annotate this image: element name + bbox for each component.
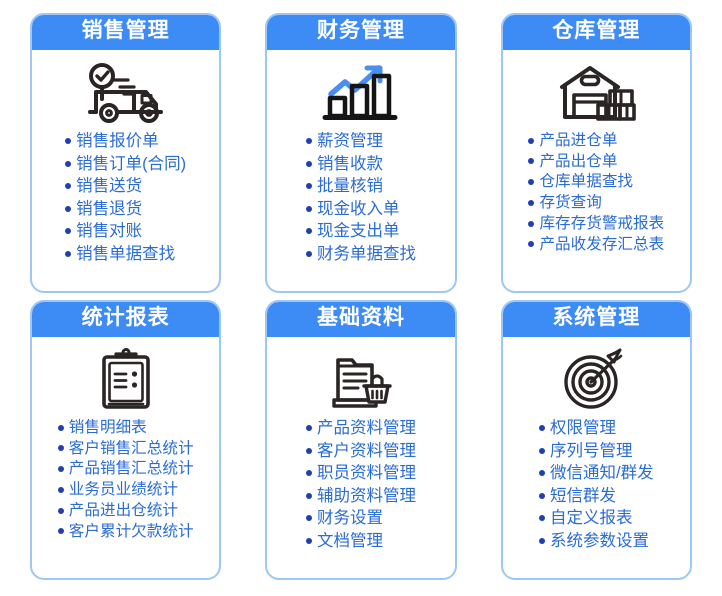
grid-cell-4: 统计报表 销售明细表 客户销售汇总统计 xyxy=(8,297,243,584)
bullet-icon xyxy=(306,515,312,521)
list-item[interactable]: 销售退货 xyxy=(65,198,186,221)
list-item[interactable]: 销售送货 xyxy=(65,175,186,198)
list-item[interactable]: 财务单据查找 xyxy=(306,243,416,266)
list-item[interactable]: 销售对账 xyxy=(65,220,186,243)
bullet-icon xyxy=(306,251,312,257)
list-item[interactable]: 存货查询 xyxy=(528,192,664,213)
item-list-reports: 销售明细表 客户销售汇总统计 产品销售汇总统计 业务员业绩统计 产品进出仓统计 … xyxy=(58,417,194,542)
list-item-label: 销售对账 xyxy=(76,223,142,240)
list-item-label: 文档管理 xyxy=(317,533,383,550)
list-item[interactable]: 辅助资料管理 xyxy=(306,485,416,508)
list-item-label: 产品收发存汇总表 xyxy=(539,237,664,253)
list-item-label: 销售报价单 xyxy=(76,133,159,150)
bullet-icon xyxy=(65,228,71,234)
list-item-label: 批量核销 xyxy=(317,178,383,195)
list-item-label: 产品销售汇总统计 xyxy=(69,461,194,477)
card-body-system: 权限管理 序列号管理 微信通知/群发 短信群发 自定义报表 系统参数设置 xyxy=(503,337,690,578)
list-item-label: 微信通知/群发 xyxy=(550,465,654,482)
list-item-label: 系统参数设置 xyxy=(550,533,649,550)
grid-cell-2: 财务管理 xyxy=(243,10,478,297)
bullet-icon xyxy=(306,138,312,144)
list-item[interactable]: 产品资料管理 xyxy=(306,417,416,440)
list-item[interactable]: 库存存货警戒报表 xyxy=(528,213,664,234)
module-card-system[interactable]: 系统管理 权限管理 序列号管理 微信通知/群发 xyxy=(501,300,692,580)
list-item[interactable]: 产品销售汇总统计 xyxy=(58,459,194,480)
list-item[interactable]: 销售单据查找 xyxy=(65,243,186,266)
list-item-label: 权限管理 xyxy=(550,420,616,437)
bullet-icon xyxy=(58,445,64,451)
list-item[interactable]: 产品进出仓统计 xyxy=(58,500,194,521)
bullet-icon xyxy=(58,528,64,534)
bullet-icon xyxy=(58,487,64,493)
list-item-label: 客户资料管理 xyxy=(317,443,416,460)
item-list-sales: 销售报价单 销售订单(合同) 销售送货 销售退货 销售对账 销售单据查找 xyxy=(65,130,186,265)
bullet-icon xyxy=(306,161,312,167)
bullet-icon xyxy=(58,508,64,514)
list-item-label: 销售收款 xyxy=(317,156,383,173)
list-item-label: 职员资料管理 xyxy=(317,465,416,482)
list-item[interactable]: 产品收发存汇总表 xyxy=(528,234,664,255)
list-item[interactable]: 短信群发 xyxy=(539,485,654,508)
card-body-basic-data: 产品资料管理 客户资料管理 职员资料管理 辅助资料管理 财务设置 文档管理 xyxy=(267,337,454,578)
bullet-icon xyxy=(306,228,312,234)
list-item-label: 仓库单据查找 xyxy=(539,174,633,190)
warehouse-boxes-icon xyxy=(554,56,638,130)
list-item-label: 财务设置 xyxy=(317,510,383,527)
list-item[interactable]: 仓库单据查找 xyxy=(528,172,664,193)
list-item[interactable]: 销售订单(合同) xyxy=(65,153,186,176)
list-item-label: 短信群发 xyxy=(550,488,616,505)
bullet-icon xyxy=(65,183,71,189)
card-body-finance: 薪资管理 销售收款 批量核销 现金收入单 现金支出单 财务单据查找 xyxy=(267,50,454,291)
list-item[interactable]: 客户资料管理 xyxy=(306,440,416,463)
list-item[interactable]: 微信通知/群发 xyxy=(539,462,654,485)
bullet-icon xyxy=(65,206,71,212)
list-item-label: 库存存货警戒报表 xyxy=(539,216,664,232)
list-item[interactable]: 现金收入单 xyxy=(306,198,416,221)
bullet-icon xyxy=(539,515,545,521)
list-item[interactable]: 序列号管理 xyxy=(539,440,654,463)
list-item[interactable]: 销售报价单 xyxy=(65,130,186,153)
list-item[interactable]: 销售收款 xyxy=(306,153,416,176)
list-item-label: 产品出仓单 xyxy=(539,154,617,170)
grid-cell-5: 基础资料 产品资料管理 客户资料管理 xyxy=(243,297,478,584)
bullet-icon xyxy=(306,183,312,189)
bullet-icon xyxy=(539,425,545,431)
list-item-label: 薪资管理 xyxy=(317,133,383,150)
bullet-icon xyxy=(58,425,64,431)
list-item[interactable]: 财务设置 xyxy=(306,507,416,530)
module-card-finance[interactable]: 财务管理 xyxy=(265,13,456,293)
grid-cell-3: 仓库管理 xyxy=(479,10,714,297)
item-list-warehouse: 产品进仓单 产品出仓单 仓库单据查找 存货查询 库存存货警戒报表 产品收发存汇总… xyxy=(528,130,664,255)
grid-cell-6: 系统管理 权限管理 序列号管理 微信通知/群发 xyxy=(479,297,714,584)
list-item[interactable]: 权限管理 xyxy=(539,417,654,440)
list-item[interactable]: 业务员业绩统计 xyxy=(58,479,194,500)
bullet-icon xyxy=(306,538,312,544)
bullet-icon xyxy=(528,241,534,247)
grid-cell-1: 销售管理 xyxy=(8,10,243,297)
module-card-grid: 销售管理 xyxy=(0,0,722,596)
module-card-basic-data[interactable]: 基础资料 产品资料管理 客户资料管理 xyxy=(265,300,456,580)
list-item[interactable]: 薪资管理 xyxy=(306,130,416,153)
list-item-label: 客户累计欠款统计 xyxy=(69,524,194,540)
module-card-sales[interactable]: 销售管理 xyxy=(30,13,221,293)
bullet-icon xyxy=(65,251,71,257)
bullet-icon xyxy=(306,206,312,212)
bullet-icon xyxy=(58,466,64,472)
card-title-reports: 统计报表 xyxy=(30,300,221,337)
target-dart-icon xyxy=(561,343,631,417)
bullet-icon xyxy=(539,470,545,476)
bullet-icon xyxy=(528,179,534,185)
list-item[interactable]: 文档管理 xyxy=(306,530,416,553)
card-title-finance: 财务管理 xyxy=(265,13,456,50)
bar-chart-growth-arrow-icon xyxy=(321,56,401,130)
bullet-icon xyxy=(528,138,534,144)
list-item-label: 序列号管理 xyxy=(550,443,633,460)
card-title-sales: 销售管理 xyxy=(30,13,221,50)
list-item[interactable]: 产品出仓单 xyxy=(528,151,664,172)
list-item[interactable]: 职员资料管理 xyxy=(306,462,416,485)
list-item-label: 销售订单(合同) xyxy=(76,156,186,173)
list-item-label: 财务单据查找 xyxy=(317,246,416,263)
card-title-basic-data: 基础资料 xyxy=(265,300,456,337)
bullet-icon xyxy=(539,538,545,544)
bullet-icon xyxy=(528,158,534,164)
bullet-icon xyxy=(306,425,312,431)
item-list-finance: 薪资管理 销售收款 批量核销 现金收入单 现金支出单 财务单据查找 xyxy=(306,130,416,265)
bullet-icon xyxy=(306,448,312,454)
bullet-icon xyxy=(539,448,545,454)
list-item-label: 产品进出仓统计 xyxy=(69,503,178,519)
item-list-basic-data: 产品资料管理 客户资料管理 职员资料管理 辅助资料管理 财务设置 文档管理 xyxy=(306,417,416,552)
list-item[interactable]: 客户销售汇总统计 xyxy=(58,438,194,459)
list-item[interactable]: 产品进仓单 xyxy=(528,130,664,151)
card-body-reports: 销售明细表 客户销售汇总统计 产品销售汇总统计 业务员业绩统计 产品进出仓统计 … xyxy=(32,337,219,578)
card-body-sales: 销售报价单 销售订单(合同) 销售送货 销售退货 销售对账 销售单据查找 xyxy=(32,50,219,291)
bullet-icon xyxy=(65,161,71,167)
list-item-label: 销售送货 xyxy=(76,178,142,195)
list-item-label: 存货查询 xyxy=(539,195,601,211)
list-item-label: 现金收入单 xyxy=(317,201,400,218)
delivery-truck-check-icon xyxy=(80,56,172,130)
list-item-label: 销售明细表 xyxy=(69,420,147,436)
list-item-label: 产品资料管理 xyxy=(317,420,416,437)
list-item[interactable]: 现金支出单 xyxy=(306,220,416,243)
list-item[interactable]: 系统参数设置 xyxy=(539,530,654,553)
list-item[interactable]: 批量核销 xyxy=(306,175,416,198)
bullet-icon xyxy=(306,493,312,499)
list-item-label: 产品进仓单 xyxy=(539,133,617,149)
list-item-label: 客户销售汇总统计 xyxy=(69,441,194,457)
card-body-warehouse: 产品进仓单 产品出仓单 仓库单据查找 存货查询 库存存货警戒报表 产品收发存汇总… xyxy=(503,50,690,291)
bullet-icon xyxy=(528,221,534,227)
bullet-icon xyxy=(539,493,545,499)
document-basket-icon xyxy=(326,343,396,417)
card-title-system: 系统管理 xyxy=(501,300,692,337)
clipboard-checklist-icon xyxy=(97,343,155,417)
bullet-icon xyxy=(528,200,534,206)
list-item-label: 现金支出单 xyxy=(317,223,400,240)
item-list-system: 权限管理 序列号管理 微信通知/群发 短信群发 自定义报表 系统参数设置 xyxy=(539,417,654,552)
list-item-label: 销售单据查找 xyxy=(76,246,175,263)
list-item-label: 销售退货 xyxy=(76,201,142,218)
list-item[interactable]: 自定义报表 xyxy=(539,507,654,530)
list-item[interactable]: 销售明细表 xyxy=(58,417,194,438)
list-item[interactable]: 客户累计欠款统计 xyxy=(58,521,194,542)
list-item-label: 业务员业绩统计 xyxy=(69,482,178,498)
card-title-warehouse: 仓库管理 xyxy=(501,13,692,50)
list-item-label: 自定义报表 xyxy=(550,510,633,527)
module-card-warehouse[interactable]: 仓库管理 xyxy=(501,13,692,293)
bullet-icon xyxy=(65,138,71,144)
list-item-label: 辅助资料管理 xyxy=(317,488,416,505)
module-card-reports[interactable]: 统计报表 销售明细表 客户销售汇总统计 xyxy=(30,300,221,580)
bullet-icon xyxy=(306,470,312,476)
